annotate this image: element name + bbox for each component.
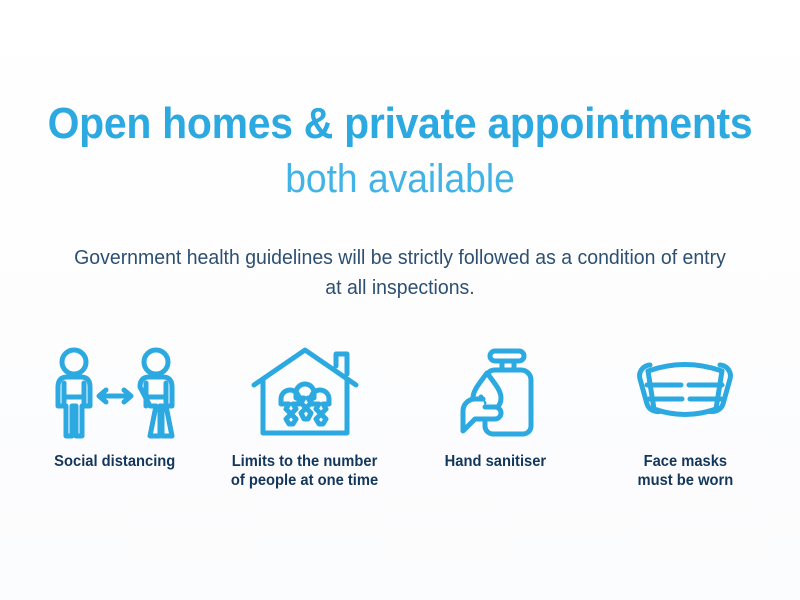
- safety-measures-row: Social distancing: [20, 343, 780, 490]
- page-title: Open homes & private appointments: [28, 99, 772, 149]
- measure-caption: Limits to the number of people at one ti…: [231, 452, 378, 490]
- covid-safety-poster: Open homes & private appointments both a…: [0, 0, 800, 600]
- measure-item-social-distancing: Social distancing: [20, 343, 210, 471]
- measure-item-hand-sanitiser: Hand sanitiser: [400, 343, 590, 471]
- body-copy: Government health guidelines will be str…: [72, 243, 728, 303]
- measure-caption: Social distancing: [54, 452, 175, 471]
- measure-item-occupancy-limit: Limits to the number of people at one ti…: [210, 343, 400, 490]
- house-occupancy-limit-icon: [250, 343, 360, 443]
- measure-item-face-mask: Face masks must be worn: [590, 343, 780, 490]
- headline-block: Open homes & private appointments both a…: [0, 99, 800, 201]
- social-distancing-icon: [44, 343, 186, 443]
- page-subtitle: both available: [28, 157, 772, 201]
- measure-caption: Face masks must be worn: [637, 452, 733, 490]
- hand-sanitiser-icon: [445, 343, 545, 443]
- measure-caption: Hand sanitiser: [444, 452, 545, 471]
- face-mask-icon: [626, 343, 744, 443]
